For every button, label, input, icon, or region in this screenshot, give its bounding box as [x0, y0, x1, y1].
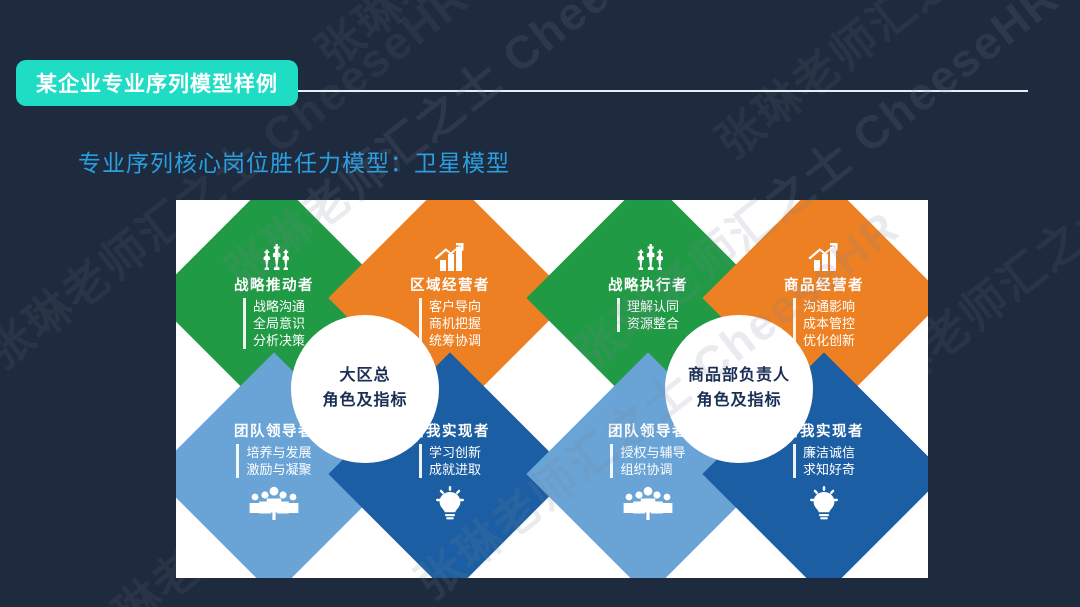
cluster-right: 战略执行者 理解认同 资源整合 [562, 212, 916, 566]
quadrant-item-list: 客户导向 商机把握 统筹协调 [419, 298, 481, 349]
slide-canvas: 张琳老师汇之士 CheeseHR 张琳老师汇之士 CheeseHR 张琳老师汇之… [0, 0, 1080, 607]
center-circle-line1: 商品部负责人 [688, 364, 790, 389]
quadrant-title: 商品经营者 [784, 274, 864, 295]
quadrant-item-list: 廉洁诚信 求知好奇 [793, 444, 855, 478]
slide-title-badge: 某企业专业序列模型样例 [16, 60, 298, 106]
quadrant-item: 沟通影响 [803, 298, 855, 315]
center-circle-line1: 大区总 [339, 364, 390, 389]
quadrant-item: 培养与发展 [246, 444, 311, 461]
quadrant-item: 战略沟通 [253, 298, 305, 315]
quadrant-item: 授权与辅导 [620, 444, 685, 461]
quadrant-title: 区域经营者 [410, 274, 490, 295]
quadrant-item-list: 学习创新 成就进取 [419, 444, 481, 478]
page-subtitle: 专业序列核心岗位胜任力模型：卫星模型 [78, 144, 510, 178]
quadrant-item: 组织协调 [620, 461, 685, 478]
quadrant-item: 求知好奇 [803, 461, 855, 478]
team-people-icon [619, 486, 677, 526]
quadrant-item: 学习创新 [429, 444, 481, 461]
bar-chart-growth-icon [430, 238, 470, 272]
cluster-left: 战略推动者 战略沟通 全局意识 分析决策 [188, 212, 542, 566]
cluster-right-center-circle: 商品部负责人 角色及指标 [665, 315, 813, 463]
quadrant-item: 全局意识 [253, 315, 305, 332]
quadrant-item-list: 战略沟通 全局意识 分析决策 [243, 298, 305, 349]
quadrant-item: 激励与凝聚 [246, 461, 311, 478]
lightbulb-icon [804, 486, 844, 526]
quadrant-item: 成本管控 [803, 315, 855, 332]
watermark-text: 张琳老师汇之士 CheeseHR [300, 0, 811, 82]
center-circle-line2: 角色及指标 [322, 389, 407, 414]
quadrant-title: 战略推动者 [234, 274, 314, 295]
lightbulb-icon [430, 486, 470, 526]
quadrant-item-list: 沟通影响 成本管控 优化创新 [793, 298, 855, 349]
center-circle-line2: 角色及指标 [696, 389, 781, 414]
quadrant-item: 商机把握 [429, 315, 481, 332]
quadrant-item: 分析决策 [253, 332, 305, 349]
cluster-left-center-circle: 大区总 角色及指标 [291, 315, 439, 463]
quadrant-item: 资源整合 [627, 315, 679, 332]
team-people-icon [245, 486, 303, 526]
quadrant-item-list: 培养与发展 激励与凝聚 [236, 444, 311, 478]
quadrant-item: 理解认同 [627, 298, 679, 315]
quadrant-item-list: 授权与辅导 组织协调 [610, 444, 685, 478]
quadrant-item: 成就进取 [429, 461, 481, 478]
diagram-panel: 战略推动者 战略沟通 全局意识 分析决策 [176, 200, 928, 578]
quadrant-item: 优化创新 [803, 332, 855, 349]
watermark-text: 张琳老师汇之士 CheeseHR [700, 0, 1080, 172]
quadrant-title: 战略执行者 [608, 274, 688, 295]
quadrant-item-list: 理解认同 资源整合 [617, 298, 679, 332]
bar-chart-growth-icon [804, 238, 844, 272]
header-divider-line [258, 90, 1028, 92]
quadrant-item: 廉洁诚信 [803, 444, 855, 461]
slide-title-text: 某企业专业序列模型样例 [36, 68, 278, 98]
chess-pieces-icon [254, 238, 294, 272]
chess-pieces-icon [628, 238, 668, 272]
quadrant-item: 客户导向 [429, 298, 481, 315]
quadrant-item: 统筹协调 [429, 332, 481, 349]
